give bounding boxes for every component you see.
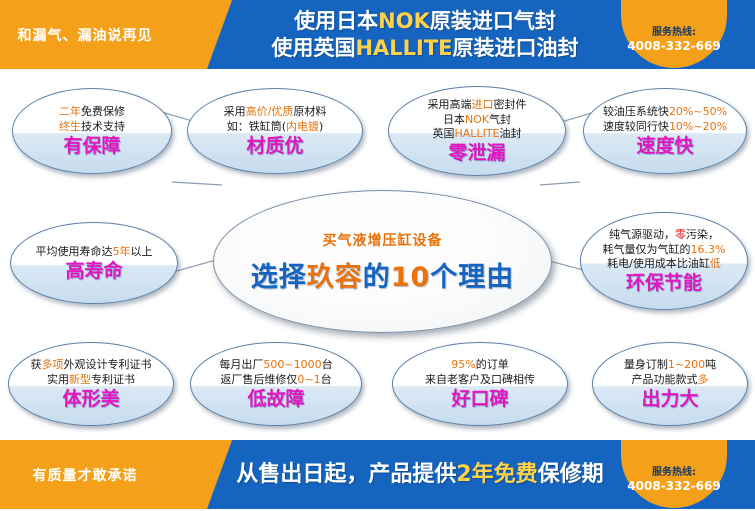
bubble-output: 量身订制1~200吨产品功能款式多出力大 xyxy=(592,342,748,426)
text-segment: 来自老客户及口碑相传 xyxy=(425,373,535,386)
bubble-title: 速度快 xyxy=(636,136,693,157)
bubble-title: 出力大 xyxy=(641,389,698,410)
text-segment: 获 xyxy=(31,358,42,371)
bubble-description: 每月出厂500~1000台返厂售后维修仅0~1台 xyxy=(219,358,332,386)
text-segment: 免费保修 xyxy=(81,105,125,118)
bubble-title: 环保节能 xyxy=(626,273,702,294)
text-segment: 5年 xyxy=(113,245,131,258)
bubble-description: 量身订制1~200吨产品功能款式多 xyxy=(624,358,716,386)
bubble-title: 体形美 xyxy=(62,389,119,410)
bubble-guarantee: 二年免费保修终生技术支持有保障 xyxy=(12,88,172,174)
header-line1-post: 原装进口气封 xyxy=(430,9,556,33)
bubble-text-line: 平均使用寿命达5年以上 xyxy=(36,245,153,259)
text-segment: 二年 xyxy=(59,105,81,118)
bubble-title: 零泄漏 xyxy=(448,143,505,164)
center-title-part3: 的 xyxy=(363,262,391,293)
header-hotline-number: 4008-332-669 xyxy=(627,39,720,55)
text-segment: 新型 xyxy=(69,373,91,386)
bubble-title: 高寿命 xyxy=(65,261,122,282)
text-segment: 日本 xyxy=(443,113,465,126)
bubble-description: 采用高端进口密封件日本NOK气封英国HALLITE油封 xyxy=(428,98,527,140)
header-line1-pre: 使用日本 xyxy=(294,9,378,33)
bubble-speed: 较油压系统快20%~50%速度较同行快10%~20%速度快 xyxy=(583,88,747,174)
center-title-part1: 选择 xyxy=(251,262,307,293)
bubble-text-line: 采用高端进口密封件 xyxy=(428,98,527,112)
text-segment: 终生 xyxy=(59,120,81,133)
text-segment: 纯气源驱动， xyxy=(609,228,675,241)
text-segment: 内电镀 xyxy=(286,120,319,133)
center-subtitle: 买气液增压缸设备 xyxy=(323,230,443,250)
bubble-text-line: 实用新型专利证书 xyxy=(31,373,152,387)
bubble-text-line: 速度较同行快10%~20% xyxy=(603,120,727,134)
text-segment: 较油压系统快 xyxy=(603,105,669,118)
bubble-text-line: 纯气源驱动，零污染， xyxy=(603,228,726,242)
header-line2-pre: 使用英国 xyxy=(271,36,355,60)
bubble-text-line: 返厂售后维修仅0~1台 xyxy=(219,373,332,387)
footer-main-text: 从售出日起，产品提供2年免费保修期 xyxy=(200,440,640,509)
bubble-eco: 纯气源驱动，零污染，耗气量仅为气缸的16.3%耗电/使用成本比油缸低环保节能 xyxy=(580,212,748,310)
footer-line1-pre: 从售出日起，产品提供 xyxy=(236,462,456,487)
footer-slogan: 有质量才敢承诺 xyxy=(10,440,160,509)
bubble-text-line: 如：铁缸筒(内电镀) xyxy=(224,120,327,134)
connector-line xyxy=(540,182,580,185)
text-segment: 产品功能款式 xyxy=(632,373,698,386)
bubble-text-line: 采用高价/优质原材料 xyxy=(224,105,327,119)
header-line-2: 使用英国HALLITE原装进口油封 xyxy=(271,35,578,61)
text-segment: 气封 xyxy=(489,113,511,126)
bubble-zero-leak: 采用高端进口密封件日本NOK气封英国HALLITE油封零泄漏 xyxy=(388,86,566,176)
text-segment: ) xyxy=(319,120,323,133)
bubble-text-line: 产品功能款式多 xyxy=(624,373,716,387)
text-segment: 95% xyxy=(451,358,475,371)
text-segment: 16.3% xyxy=(691,243,726,256)
bubble-material: 采用高价/优质原材料如：铁缸筒(内电镀)材质优 xyxy=(187,88,363,174)
bubble-text-line: 量身订制1~200吨 xyxy=(624,358,716,372)
text-segment: 的订单 xyxy=(476,358,509,371)
footer-line1-post: 保修期 xyxy=(538,462,604,487)
text-segment: 低 xyxy=(710,257,721,270)
bubble-description: 纯气源驱动，零污染，耗气量仅为气缸的16.3%耗电/使用成本比油缸低 xyxy=(603,228,726,270)
bubble-title: 有保障 xyxy=(63,136,120,157)
text-segment: 平均使用寿命达 xyxy=(36,245,113,258)
bubble-description: 95%的订单来自老客户及口碑相传 xyxy=(425,358,535,386)
bubble-description: 采用高价/优质原材料如：铁缸筒(内电镀) xyxy=(224,105,327,133)
text-segment: 500~1000 xyxy=(263,358,321,371)
text-segment: 实用 xyxy=(47,373,69,386)
text-segment: 10%~20% xyxy=(669,120,727,133)
text-segment: 污染， xyxy=(686,228,719,241)
bubble-design: 获多项外观设计专利证书实用新型专利证书体形美 xyxy=(8,342,174,426)
text-segment: 进口 xyxy=(472,98,494,111)
footer-line1-highlight: 2年免费 xyxy=(456,462,537,487)
center-title: 选择玖容的10个理由 xyxy=(251,255,515,294)
text-segment: 采用 xyxy=(224,105,246,118)
text-segment: 返厂售后维修仅 xyxy=(220,373,297,386)
text-segment: 密封件 xyxy=(494,98,527,111)
header-slogan: 和漏气、漏油说再见 xyxy=(10,0,160,69)
text-segment: 外观设计专利证书 xyxy=(64,358,152,371)
center-title-part2: 玖容 xyxy=(307,262,363,293)
text-segment: 吨 xyxy=(705,358,716,371)
header-line1-highlight: NOK xyxy=(378,9,430,33)
bubble-title: 低故障 xyxy=(247,389,304,410)
bubble-longevity: 平均使用寿命达5年以上高寿命 xyxy=(10,222,178,304)
footer-hotline-label: 服务热线: xyxy=(652,466,696,479)
bubble-text-line: 每月出厂500~1000台 xyxy=(219,358,332,372)
header-hotline-badge[interactable]: 服务热线: 4008-332-669 xyxy=(621,0,727,68)
text-segment: 英国 xyxy=(433,127,455,140)
bubble-reputation: 95%的订单来自老客户及口碑相传好口碑 xyxy=(392,342,568,426)
header-hotline-label: 服务热线: xyxy=(652,26,696,39)
bubble-text-line: 二年免费保修 xyxy=(59,105,125,119)
text-segment: 台 xyxy=(321,373,332,386)
bubble-text-line: 获多项外观设计专利证书 xyxy=(31,358,152,372)
bubble-text-line: 来自老客户及口碑相传 xyxy=(425,373,535,387)
bubble-text-line: 日本NOK气封 xyxy=(428,113,527,127)
header-main-text: 使用日本NOK原装进口气封 使用英国HALLITE原装进口油封 xyxy=(225,0,625,69)
footer-banner: 有质量才敢承诺 从售出日起，产品提供2年免费保修期 服务热线: 4008-332… xyxy=(0,440,755,509)
text-segment: 高价/优质 xyxy=(246,105,294,118)
text-segment: 技术支持 xyxy=(81,120,125,133)
bubble-text-line: 英国HALLITE油封 xyxy=(428,127,527,141)
bubble-description: 获多项外观设计专利证书实用新型专利证书 xyxy=(31,358,152,386)
text-segment: 采用高端 xyxy=(428,98,472,111)
bubble-text-line: 耗电/使用成本比油缸低 xyxy=(603,257,726,271)
text-segment: 台 xyxy=(322,358,333,371)
bubble-title: 材质优 xyxy=(246,136,303,157)
bubble-text-line: 耗气量仅为气缸的16.3% xyxy=(603,243,726,257)
center-title-part4: 10 xyxy=(391,262,431,293)
header-banner: 和漏气、漏油说再见 使用日本NOK原装进口气封 使用英国HALLITE原装进口油… xyxy=(0,0,755,69)
text-segment: 零 xyxy=(675,228,686,241)
footer-hotline-number: 4008-332-669 xyxy=(627,479,720,495)
connector-line xyxy=(172,182,222,185)
text-segment: 每月出厂 xyxy=(219,358,263,371)
bubble-title: 好口碑 xyxy=(451,389,508,410)
text-segment: 油封 xyxy=(499,127,521,140)
text-segment: 如：铁缸筒( xyxy=(227,120,286,133)
bubble-description: 平均使用寿命达5年以上 xyxy=(36,245,153,259)
text-segment: 量身订制 xyxy=(624,358,668,371)
center-bubble: 买气液增压缸设备 选择玖容的10个理由 xyxy=(213,190,552,333)
infographic-canvas: 和漏气、漏油说再见 使用日本NOK原装进口气封 使用英国HALLITE原装进口油… xyxy=(0,0,755,511)
text-segment: 多项 xyxy=(42,358,64,371)
text-segment: 多 xyxy=(698,373,709,386)
bubble-description: 二年免费保修终生技术支持 xyxy=(59,105,125,133)
text-segment: 耗气量仅为气缸的 xyxy=(603,243,691,256)
bubble-text-line: 较油压系统快20%~50% xyxy=(603,105,727,119)
text-segment: 以上 xyxy=(131,245,153,258)
center-title-part5: 个理由 xyxy=(430,262,514,293)
header-line-1: 使用日本NOK原装进口气封 xyxy=(294,8,556,34)
footer-line-1: 从售出日起，产品提供2年免费保修期 xyxy=(236,461,603,489)
text-segment: 20%~50% xyxy=(669,105,727,118)
bubble-text-line: 终生技术支持 xyxy=(59,120,125,134)
bubble-low-fault: 每月出厂500~1000台返厂售后维修仅0~1台低故障 xyxy=(190,342,362,426)
header-line2-post: 原装进口油封 xyxy=(453,36,579,60)
bubble-description: 较油压系统快20%~50%速度较同行快10%~20% xyxy=(603,105,727,133)
text-segment: 原材料 xyxy=(293,105,326,118)
text-segment: 专利证书 xyxy=(91,373,135,386)
text-segment: NOK xyxy=(465,113,489,126)
text-segment: HALLITE xyxy=(455,127,500,140)
text-segment: 速度较同行快 xyxy=(603,120,669,133)
bubble-text-line: 95%的订单 xyxy=(425,358,535,372)
text-segment: 1~200 xyxy=(668,358,705,371)
text-segment: 0~1 xyxy=(297,373,320,386)
header-line2-highlight: HALLITE xyxy=(355,36,452,60)
text-segment: 耗电/使用成本比油缸 xyxy=(607,257,710,270)
